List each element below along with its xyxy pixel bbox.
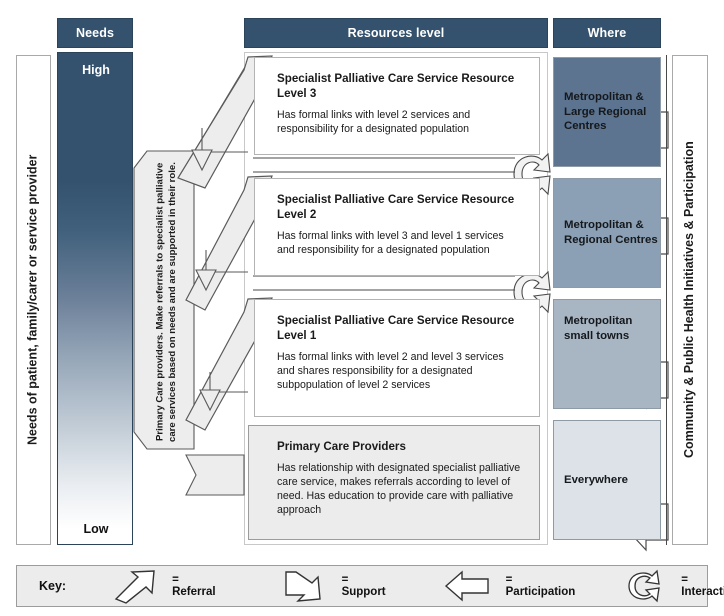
header-resources-level: Resources level [244,18,548,48]
diagram-root: Needs Resources level Where Needs of pat… [0,0,724,616]
needs-gradient-scale: High Low [57,52,133,545]
resource-card-level-3-body: Has formal links with level 2 services a… [277,108,523,136]
resource-card-primary-care[interactable]: Primary Care Providers Has relationship … [248,425,540,540]
right-rail-line [666,55,667,545]
header-needs: Needs [57,18,133,48]
header-where: Where [553,18,661,48]
right-axis-label-box: Community & Public Health Initiatives & … [672,55,708,545]
needs-high-label: High [58,63,134,77]
resource-card-level-3[interactable]: Specialist Palliative Care Service Resou… [254,57,540,155]
support-arrow-level-1-head [200,390,220,410]
primary-care-band: Primary Care providers. Make referrals t… [136,155,194,445]
key-text-referral: = Referral [172,574,215,598]
where-box-3-label: Metropolitan small towns [564,314,660,344]
community-public-health-label: Community & Public Health Initiatives & … [673,56,707,544]
where-box-metropolitan-large-regional[interactable]: Metropolitan & Large Regional Centres [553,57,661,167]
key-text-interaction: = Interaction [681,574,724,598]
resource-card-level-2-body: Has formal links with level 3 and level … [277,229,523,257]
support-arrow-level-2-head [196,270,216,290]
resource-card-primary-care-title: Primary Care Providers [277,440,523,455]
where-box-4-label: Everywhere [564,473,628,488]
needs-of-patient-label: Needs of patient, family/carer or servic… [17,56,50,544]
support-arrow-level-3 [202,128,248,152]
key-text-participation: = Participation [506,574,576,598]
left-axis-label-box: Needs of patient, family/carer or servic… [16,55,51,545]
resource-card-level-2-title: Specialist Palliative Care Service Resou… [277,193,523,223]
where-box-metropolitan-regional[interactable]: Metropolitan & Regional Centres [553,178,661,288]
where-box-2-label: Metropolitan & Regional Centres [564,218,660,248]
key-item-referral: = Referral [114,569,215,603]
participation-arrow-icon [444,570,492,602]
resource-card-level-1-body: Has formal links with level 2 and level … [277,350,523,392]
key-item-interaction: = Interaction [625,569,724,603]
referral-arrow-icon [114,569,158,603]
support-arrow-icon [284,569,328,603]
support-arrow-level-1 [210,372,248,392]
where-box-metropolitan-small-towns[interactable]: Metropolitan small towns [553,299,661,409]
resource-card-level-2[interactable]: Specialist Palliative Care Service Resou… [254,178,540,276]
key-legend-bar: Key: = Referral = Support = Participatio… [16,565,708,607]
resource-card-level-1[interactable]: Specialist Palliative Care Service Resou… [254,299,540,417]
key-item-participation: = Participation [444,570,576,602]
interaction-arrow-icon [625,569,667,603]
where-box-everywhere[interactable]: Everywhere [553,420,661,540]
needs-low-label: Low [58,522,134,536]
key-text-support: = Support [342,574,386,598]
primary-care-connector [186,455,244,495]
key-label: Key: [39,579,66,593]
where-box-1-label: Metropolitan & Large Regional Centres [564,90,660,134]
key-item-support: = Support [284,569,386,603]
resource-card-level-3-title: Specialist Palliative Care Service Resou… [277,72,523,102]
support-arrow-level-2 [206,250,248,272]
resource-card-level-1-title: Specialist Palliative Care Service Resou… [277,314,523,344]
resource-card-primary-care-body: Has relationship with designated special… [277,461,523,517]
primary-care-band-text: Primary Care providers. Make referrals t… [136,155,198,449]
